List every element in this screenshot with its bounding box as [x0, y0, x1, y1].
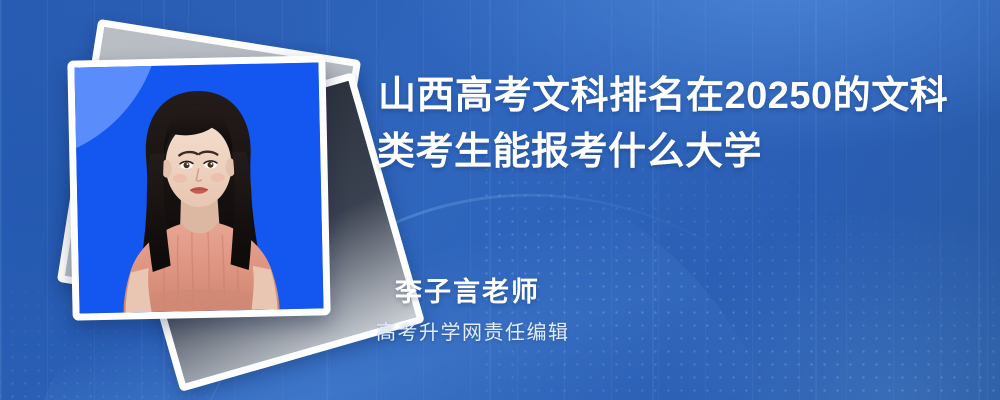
photo-card-front [67, 55, 330, 320]
article-title-line-1: 山西高考文科排名在20250的文科 [375, 68, 950, 124]
photo-card-stack [48, 42, 348, 352]
article-title: 山西高考文科排名在20250的文科 类考生能报考什么大学 [375, 68, 950, 180]
author-name: 李子言老师 [395, 270, 540, 309]
article-cover-banner: 山西高考文科排名在20250的文科 类考生能报考什么大学 李子言老师 高考升学网… [0, 0, 1000, 400]
article-title-line-2: 类考生能报考什么大学 [375, 124, 950, 180]
portrait-photo-avatar [74, 62, 323, 313]
author-role: 高考升学网责任编辑 [376, 316, 570, 345]
text-column: 山西高考文科排名在20250的文科 类考生能报考什么大学 李子言老师 高考升学网… [375, 0, 975, 400]
